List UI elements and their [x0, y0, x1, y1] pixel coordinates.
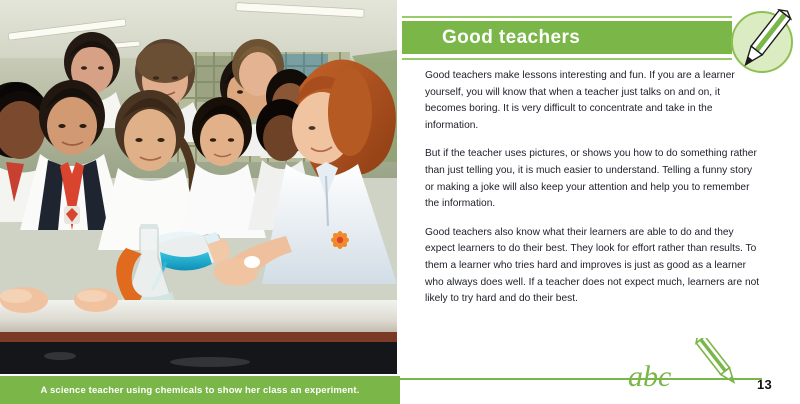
page-title: Good teachers	[442, 27, 580, 49]
photo-caption-text: A science teacher using chemicals to sho…	[41, 385, 360, 396]
photo-caption-bar: A science teacher using chemicals to sho…	[0, 376, 400, 404]
heading-rule-top	[402, 16, 732, 18]
section-heading: Good teachers	[402, 16, 732, 60]
classroom-photo-image	[0, 0, 397, 374]
heading-bar: Good teachers	[402, 21, 732, 54]
content-pane: Good teachers Good	[400, 0, 800, 404]
footer-art-svg: abc	[610, 338, 780, 394]
paragraph-1: Good teachers make lessons interesting a…	[425, 68, 763, 134]
page-number: 13	[757, 377, 772, 392]
abc-script: abc	[628, 360, 671, 393]
heading-rule-bottom	[402, 58, 732, 60]
page-root: A science teacher using chemicals to sho…	[0, 0, 800, 404]
footer-abc-pencil: abc	[610, 338, 780, 394]
page-footer: abc 13	[400, 376, 800, 404]
paragraph-3: Good teachers also know what their learn…	[425, 225, 763, 308]
body-copy: Good teachers make lessons interesting a…	[425, 68, 763, 308]
paragraph-2: But if the teacher uses pictures, or sho…	[425, 146, 763, 212]
classroom-photo	[0, 0, 397, 374]
